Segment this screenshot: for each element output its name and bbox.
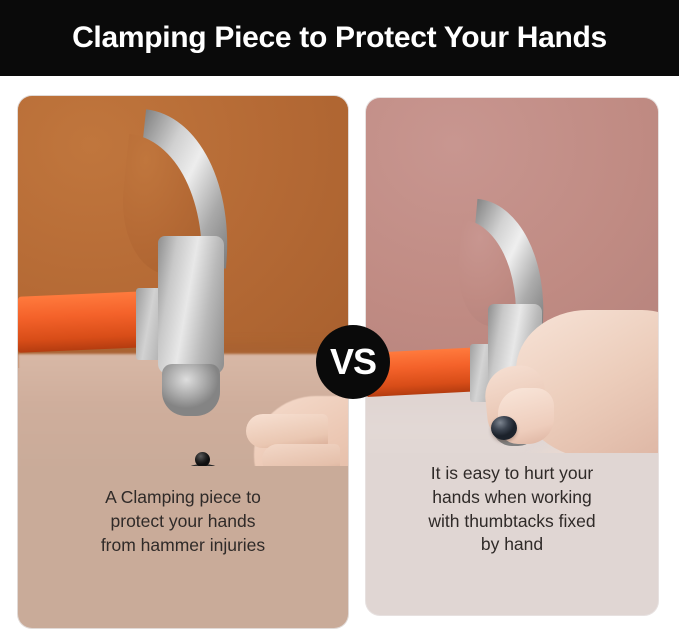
product-photo-left: [18, 96, 348, 466]
hammer-striking-face: [162, 364, 220, 416]
caption-left-line-1: A Clamping piece to: [38, 486, 328, 510]
caption-left: A Clamping piece to protect your hands f…: [18, 468, 348, 557]
thumbtack-head-right: [491, 416, 517, 440]
finger-index: [246, 414, 328, 448]
thumbtack-knob-left: [195, 452, 210, 466]
hammer-handle: [18, 291, 146, 353]
caption-right: It is easy to hurt your hands when worki…: [366, 448, 658, 557]
header-bar: Clamping Piece to Protect Your Hands: [0, 0, 679, 76]
versus-badge: VS: [316, 325, 390, 399]
comparison-area: A Clamping piece to protect your hands f…: [0, 76, 679, 634]
caption-right-line-2: hands when working: [382, 486, 642, 510]
finger-thumb: [262, 444, 340, 466]
page-title: Clamping Piece to Protect Your Hands: [72, 21, 607, 55]
versus-badge-label: VS: [330, 344, 376, 380]
caption-right-line-3: with thumbtacks fixed: [382, 510, 642, 534]
hammer-head: [158, 236, 224, 374]
caption-right-line-4: by hand: [382, 533, 642, 557]
comparison-panel-right: It is easy to hurt your hands when worki…: [366, 98, 658, 615]
caption-left-line-2: protect your hands: [38, 510, 328, 534]
product-photo-right: [366, 98, 658, 453]
caption-left-line-3: from hammer injuries: [38, 534, 328, 558]
comparison-panel-left: A Clamping piece to protect your hands f…: [18, 96, 348, 628]
caption-right-line-1: It is easy to hurt your: [382, 462, 642, 486]
